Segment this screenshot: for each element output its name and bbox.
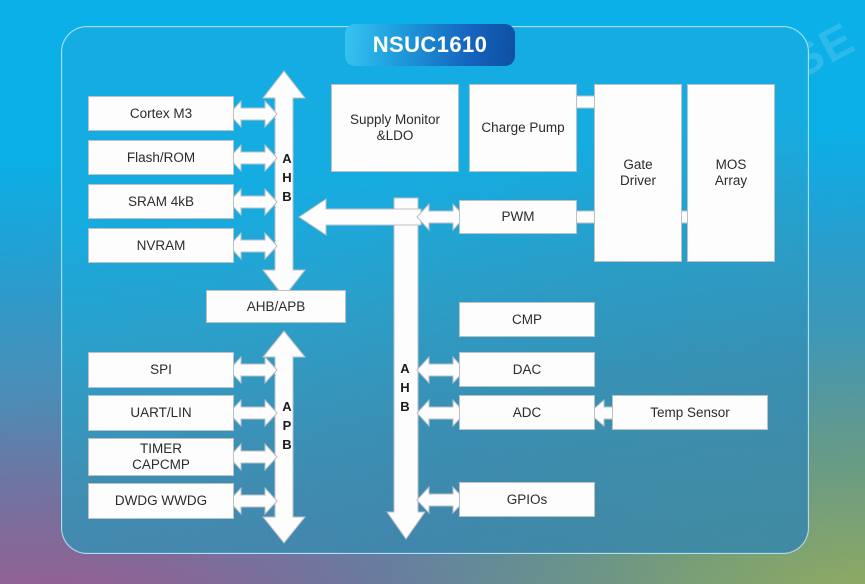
block-cmp[interactable]: CMP: [459, 302, 595, 337]
block-dwdg-wwdg[interactable]: DWDG WWDG: [88, 483, 234, 519]
arrow-sram-to-ahb: [228, 188, 278, 216]
block-cortex-m3[interactable]: Cortex M3: [88, 96, 234, 131]
arrow-uart-to-apb: [228, 399, 278, 427]
block-sram-4kb[interactable]: SRAM 4kB: [88, 184, 234, 219]
arrow-nvram-to-ahb: [228, 232, 278, 260]
chip-title: NSUC1610: [373, 32, 487, 58]
block-nvram[interactable]: NVRAM: [88, 228, 234, 263]
diagram-canvas: NOVOSENSE 纳芯微电子 NOVOSENSE 纳芯微电子 NOVOSENS…: [0, 0, 865, 584]
arrow-dwdg-to-apb: [228, 487, 278, 515]
arrow-cortex-to-ahb: [228, 100, 278, 128]
arrow-spi-to-apb: [228, 356, 278, 384]
block-spi[interactable]: SPI: [88, 352, 234, 388]
block-flash-rom[interactable]: Flash/ROM: [88, 140, 234, 175]
block-gpios[interactable]: GPIOs: [459, 482, 595, 517]
bus-label-apb-left: A P B: [280, 398, 294, 455]
block-supply-monitor-ldo[interactable]: Supply Monitor &LDO: [331, 84, 459, 172]
block-gate-driver[interactable]: Gate Driver: [594, 84, 682, 262]
bus-connector-arrow-left: [298, 198, 422, 236]
block-dac[interactable]: DAC: [459, 352, 595, 387]
block-temp-sensor[interactable]: Temp Sensor: [612, 395, 768, 430]
block-pwm[interactable]: PWM: [459, 200, 577, 234]
bus-label-ahb-left: A H B: [280, 150, 294, 207]
arrow-flash-to-ahb: [228, 144, 278, 172]
arrow-timer-to-apb: [228, 443, 278, 471]
bus-label-ahb-right: A H B: [398, 360, 412, 417]
block-uart-lin[interactable]: UART/LIN: [88, 395, 234, 431]
block-charge-pump[interactable]: Charge Pump: [469, 84, 577, 172]
block-adc[interactable]: ADC: [459, 395, 595, 430]
chip-title-badge: NSUC1610: [345, 24, 515, 66]
block-timer-capcmp[interactable]: TIMER CAPCMP: [88, 438, 234, 476]
block-ahb-apb-bridge[interactable]: AHB/APB: [206, 290, 346, 323]
block-mos-array[interactable]: MOS Array: [687, 84, 775, 262]
